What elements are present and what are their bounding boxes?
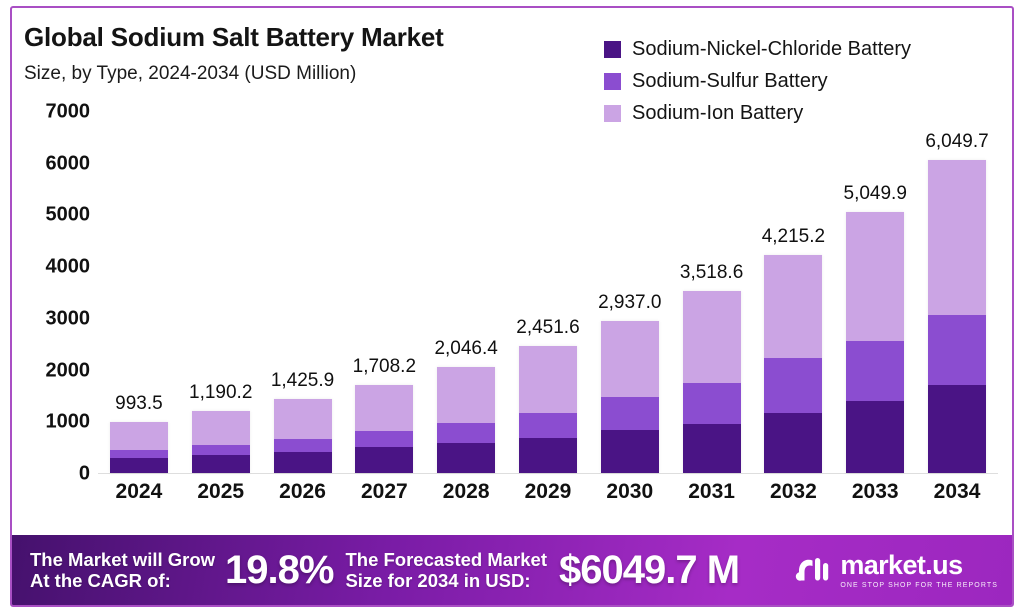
bar-segment[interactable] (764, 413, 822, 473)
market-us-logo-icon (793, 552, 833, 589)
chart-subtitle: Size, by Type, 2024-2034 (USD Million) (24, 63, 584, 85)
bar-segment[interactable] (683, 383, 741, 424)
x-axis-tick-label: 2024 (98, 480, 180, 504)
legend-item[interactable]: Sodium-Sulfur Battery (604, 70, 911, 93)
bar-value-label: 6,049.7 (925, 131, 988, 153)
bar-stack[interactable] (355, 385, 413, 473)
x-axis: 2024202520262027202820292030203120322033… (98, 480, 998, 504)
bar-segment[interactable] (110, 450, 168, 458)
bar-column[interactable]: 4,215.2 (753, 112, 835, 473)
bar-value-label: 2,046.4 (434, 338, 497, 360)
cagr-caption-line2: At the CAGR of: (30, 570, 215, 591)
bar-segment[interactable] (601, 430, 659, 473)
bar-column[interactable]: 1,190.2 (180, 112, 262, 473)
logo-name: market.us (840, 552, 998, 579)
legend-item[interactable]: Sodium-Nickel-Chloride Battery (604, 38, 911, 61)
infographic-root: Global Sodium Salt Battery Market Size, … (0, 0, 1024, 615)
y-axis-tick-label: 4000 (46, 256, 91, 279)
cagr-caption-line1: The Market will Grow (30, 549, 215, 570)
bar-value-label: 4,215.2 (762, 226, 825, 248)
bar-column[interactable]: 993.5 (98, 112, 180, 473)
bar-segment[interactable] (764, 255, 822, 358)
bar-value-label: 993.5 (115, 393, 163, 415)
bar-segment[interactable] (192, 411, 250, 444)
bar-segment[interactable] (764, 358, 822, 413)
x-axis-tick-label: 2026 (262, 480, 344, 504)
bar-segment[interactable] (437, 423, 495, 443)
bar-segment[interactable] (846, 401, 904, 473)
bar-segment[interactable] (355, 431, 413, 448)
x-axis-tick-label: 2028 (425, 480, 507, 504)
bars-area: 993.51,190.21,425.91,708.22,046.42,451.6… (98, 112, 998, 474)
forecast-caption: The Forecasted Market Size for 2034 in U… (345, 549, 547, 591)
bar-segment[interactable] (355, 385, 413, 431)
footer-banner: The Market will Grow At the CAGR of: 19.… (12, 535, 1012, 605)
cagr-value: 19.8% (225, 548, 333, 593)
bar-segment[interactable] (683, 291, 741, 382)
y-axis-tick-label: 5000 (46, 204, 91, 227)
bar-segment[interactable] (192, 455, 250, 473)
forecast-caption-line2: Size for 2034 in USD: (345, 570, 547, 591)
bar-segment[interactable] (110, 422, 168, 450)
bar-stack[interactable] (764, 255, 822, 473)
forecast-block: The Forecasted Market Size for 2034 in U… (345, 548, 745, 593)
cagr-caption: The Market will Grow At the CAGR of: (30, 549, 215, 591)
bar-value-label: 1,708.2 (353, 356, 416, 378)
bar-stack[interactable] (846, 212, 904, 473)
square-swatch-icon (604, 73, 621, 90)
logo-tagline: ONE STOP SHOP FOR THE REPORTS (840, 582, 998, 589)
chart-frame: Global Sodium Salt Battery Market Size, … (10, 6, 1014, 607)
forecast-caption-line1: The Forecasted Market (345, 549, 547, 570)
bar-stack[interactable] (110, 422, 168, 473)
bar-column[interactable]: 1,708.2 (343, 112, 425, 473)
bar-stack[interactable] (519, 346, 577, 473)
bar-value-label: 5,049.9 (844, 183, 907, 205)
bar-segment[interactable] (274, 399, 332, 439)
bar-segment[interactable] (601, 321, 659, 396)
y-axis: 01000200030004000500060007000 (12, 112, 90, 474)
bar-segment[interactable] (846, 341, 904, 401)
bar-value-label: 2,451.6 (516, 317, 579, 339)
cagr-block: The Market will Grow At the CAGR of: 19.… (30, 548, 345, 593)
bar-column[interactable]: 2,937.0 (589, 112, 671, 473)
bar-segment[interactable] (519, 438, 577, 473)
bar-segment[interactable] (437, 443, 495, 473)
bar-stack[interactable] (192, 411, 250, 473)
bar-column[interactable]: 2,451.6 (507, 112, 589, 473)
bar-segment[interactable] (846, 212, 904, 341)
x-axis-tick-label: 2034 (916, 480, 998, 504)
bar-segment[interactable] (274, 439, 332, 452)
y-axis-tick-label: 1000 (46, 411, 91, 434)
market-us-logo[interactable]: market.us ONE STOP SHOP FOR THE REPORTS (793, 552, 998, 589)
bar-segment[interactable] (928, 315, 986, 385)
bar-segment[interactable] (519, 346, 577, 412)
bar-segment[interactable] (601, 397, 659, 431)
bar-column[interactable]: 6,049.7 (916, 112, 998, 473)
bar-value-label: 2,937.0 (598, 292, 661, 314)
bar-segment[interactable] (519, 413, 577, 439)
legend-item-label: Sodium-Nickel-Chloride Battery (632, 38, 911, 61)
bar-value-label: 1,190.2 (189, 382, 252, 404)
x-axis-tick-label: 2027 (343, 480, 425, 504)
bar-segment[interactable] (928, 160, 986, 315)
bar-column[interactable]: 5,049.9 (834, 112, 916, 473)
bar-column[interactable]: 3,518.6 (671, 112, 753, 473)
bar-stack[interactable] (601, 321, 659, 473)
header: Global Sodium Salt Battery Market Size, … (24, 22, 584, 85)
bar-value-label: 3,518.6 (680, 262, 743, 284)
bar-segment[interactable] (192, 445, 250, 455)
bar-column[interactable]: 1,425.9 (262, 112, 344, 473)
x-axis-tick-label: 2030 (589, 480, 671, 504)
page-title: Global Sodium Salt Battery Market (24, 22, 584, 53)
y-axis-tick-label: 7000 (46, 101, 91, 124)
x-axis-tick-label: 2031 (671, 480, 753, 504)
bar-segment[interactable] (355, 447, 413, 473)
y-axis-tick-label: 2000 (46, 359, 91, 382)
square-swatch-icon (604, 41, 621, 58)
bar-segment[interactable] (274, 452, 332, 473)
x-axis-tick-label: 2033 (834, 480, 916, 504)
bar-stack[interactable] (437, 367, 495, 473)
plot-area: 01000200030004000500060007000 993.51,190… (12, 112, 1012, 512)
bar-stack[interactable] (683, 291, 741, 473)
bar-segment[interactable] (437, 367, 495, 423)
bar-stack[interactable] (928, 160, 986, 473)
bar-segment[interactable] (928, 385, 986, 473)
y-axis-tick-label: 0 (79, 463, 90, 486)
x-axis-tick-label: 2025 (180, 480, 262, 504)
bar-value-label: 1,425.9 (271, 370, 334, 392)
bar-segment[interactable] (683, 424, 741, 473)
bar-stack[interactable] (274, 399, 332, 473)
x-axis-tick-label: 2032 (753, 480, 835, 504)
forecast-value: $6049.7 M (559, 548, 739, 593)
market-us-logo-text: market.us ONE STOP SHOP FOR THE REPORTS (840, 552, 998, 589)
y-axis-tick-label: 6000 (46, 152, 91, 175)
bar-segment[interactable] (110, 458, 168, 473)
bar-column[interactable]: 2,046.4 (425, 112, 507, 473)
legend-item-label: Sodium-Sulfur Battery (632, 70, 828, 93)
y-axis-tick-label: 3000 (46, 307, 91, 330)
x-axis-tick-label: 2029 (507, 480, 589, 504)
